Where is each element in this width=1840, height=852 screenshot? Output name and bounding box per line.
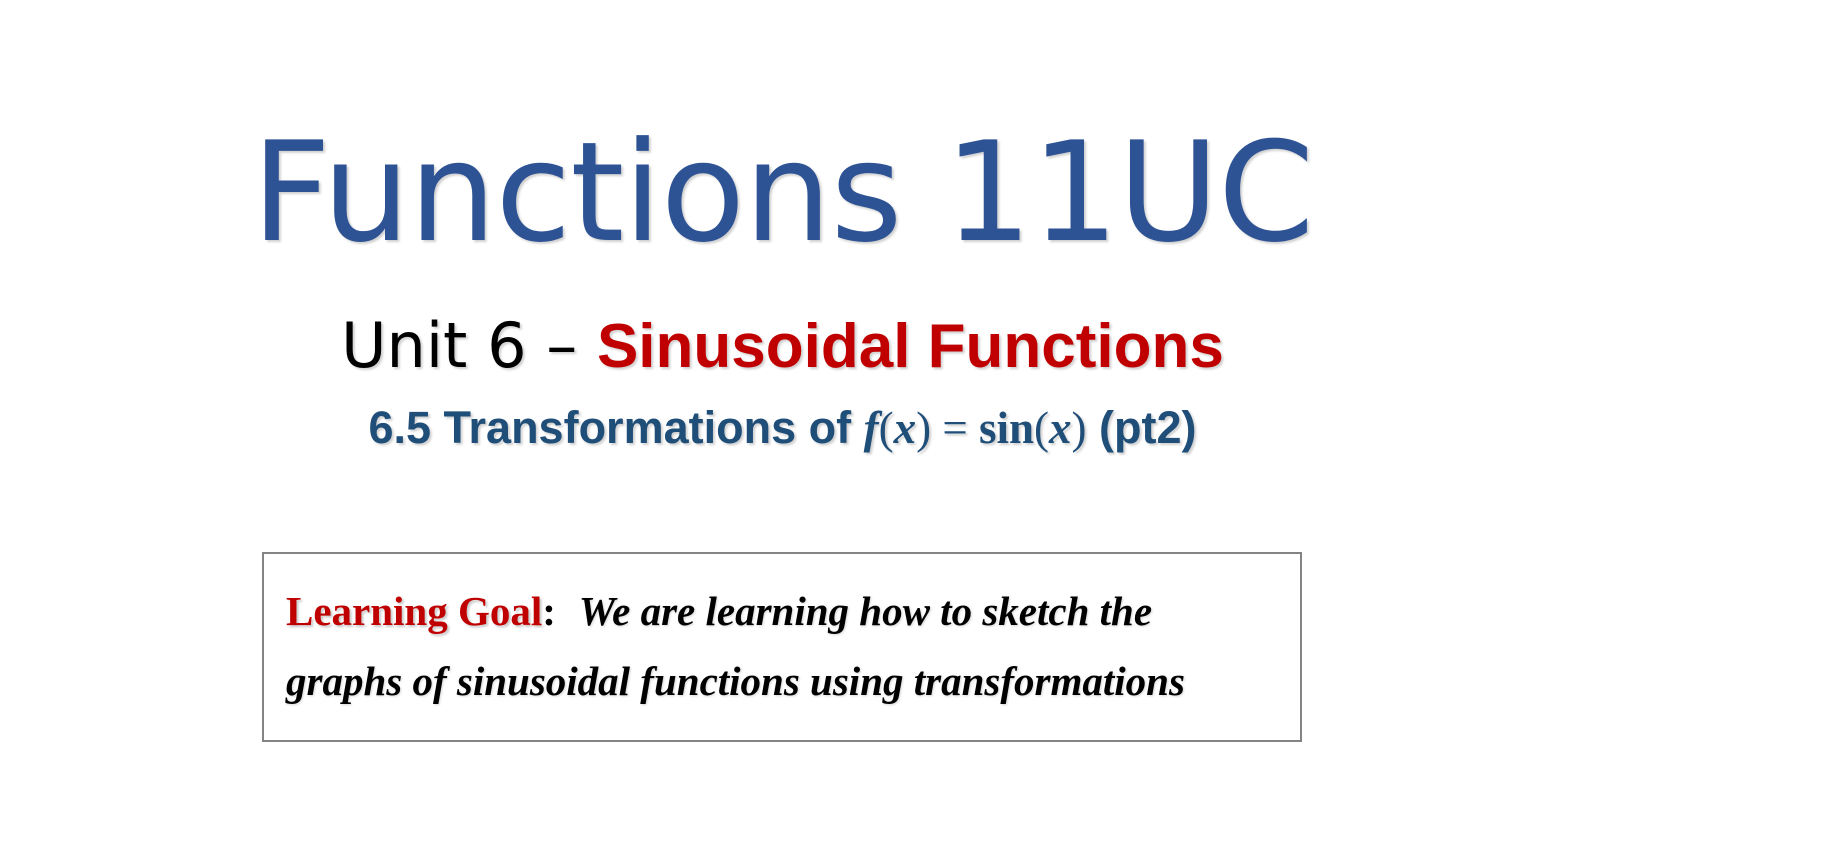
formula-close-paren-2: ) bbox=[1072, 403, 1087, 453]
page-title: Functions 11UC bbox=[0, 118, 1565, 268]
formula-f: f bbox=[864, 403, 879, 453]
formula-equals: = bbox=[931, 403, 979, 453]
lesson-heading: 6.5 Transformations of f(x) = sin(x) (pt… bbox=[0, 398, 1565, 458]
formula-x-1: x bbox=[894, 403, 917, 453]
learning-goal-colon: : bbox=[542, 588, 556, 634]
title-text: Functions 11UC bbox=[252, 112, 1314, 273]
formula-close-paren-1: ) bbox=[916, 403, 931, 453]
learning-goal-body-line-2: graphs of sinusoidal functions using tra… bbox=[286, 658, 1185, 704]
unit-heading: Unit 6 – Sinusoidal Functions bbox=[0, 308, 1565, 385]
lesson-formula: f(x) = sin(x) bbox=[864, 403, 1087, 453]
formula-sin: sin bbox=[979, 403, 1034, 453]
formula-open-paren-1: ( bbox=[879, 403, 894, 453]
learning-goal-text: Learning Goal: We are learning how to sk… bbox=[286, 576, 1278, 716]
formula-x-2: x bbox=[1049, 403, 1072, 453]
learning-goal-body-line-1: We are learning how to sketch the bbox=[579, 588, 1152, 634]
unit-topic-text: Sinusoidal Functions bbox=[597, 312, 1224, 381]
slide-canvas: Functions 11UC Unit 6 – Sinusoidal Funct… bbox=[0, 0, 1840, 852]
lesson-number-text: 6.5 Transformations of bbox=[368, 402, 863, 453]
learning-goal-box: Learning Goal: We are learning how to sk… bbox=[262, 552, 1302, 742]
unit-prefix-text: Unit 6 – bbox=[341, 309, 597, 382]
formula-open-paren-2: ( bbox=[1034, 403, 1049, 453]
lesson-part-text: (pt2) bbox=[1087, 402, 1197, 453]
learning-goal-label: Learning Goal bbox=[286, 588, 542, 634]
